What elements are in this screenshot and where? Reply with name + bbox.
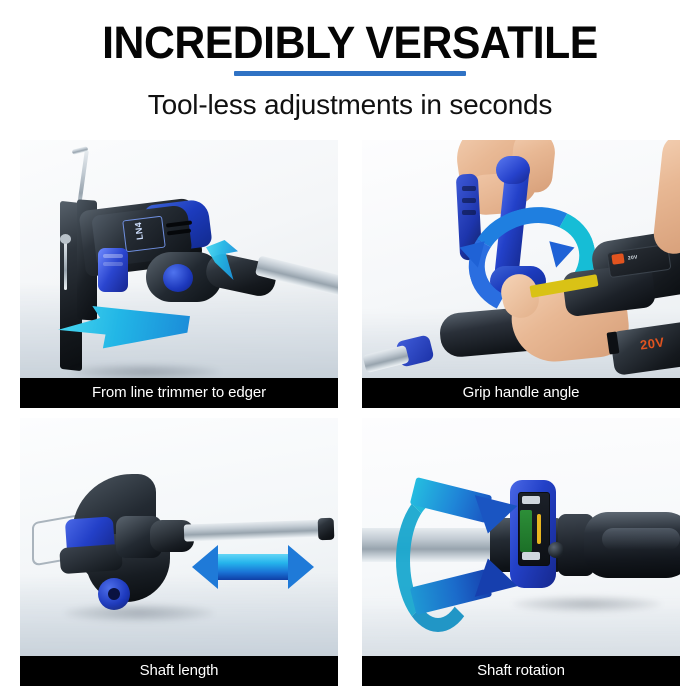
panel-photo-grip-handle-angle: 20V 20V (362, 140, 680, 378)
panel-photo-shaft-rotation (362, 418, 680, 656)
panel-caption-shaft-rotation: Shaft rotation (362, 656, 680, 686)
shaft-length-arrow-icon (192, 544, 314, 590)
panel-caption-shaft-length: Shaft length (20, 656, 338, 686)
accent-divider (0, 68, 700, 78)
feature-panel-line-trimmer-to-edger: LN4 (20, 140, 338, 408)
accent-rule (234, 71, 466, 76)
panel-photo-shaft-length (20, 418, 338, 656)
page-subtitle: Tool-less adjustments in seconds (0, 78, 700, 121)
header: INCREDIBLY VERSATILE Tool-less adjustmen… (0, 0, 700, 121)
panel-photo-line-trimmer-to-edger: LN4 (20, 140, 338, 378)
feature-panel-shaft-rotation: Shaft rotation (362, 418, 680, 686)
product-feature-image: INCREDIBLY VERSATILE Tool-less adjustmen… (0, 0, 700, 700)
page-title: INCREDIBLY VERSATILE (18, 0, 683, 68)
shaft-rotation-arrow-icon (396, 480, 506, 612)
panel-caption-line-trimmer-to-edger: From line trimmer to edger (20, 378, 338, 408)
feature-panel-grid: LN4 (20, 140, 680, 682)
feature-panel-shaft-length: Shaft length (20, 418, 338, 686)
panel-caption-grip-handle-angle: Grip handle angle (362, 378, 680, 408)
head-marking-label: LN4 (133, 222, 145, 241)
feature-panel-grip-handle-angle: 20V 20V Grip handle angle (362, 140, 680, 408)
